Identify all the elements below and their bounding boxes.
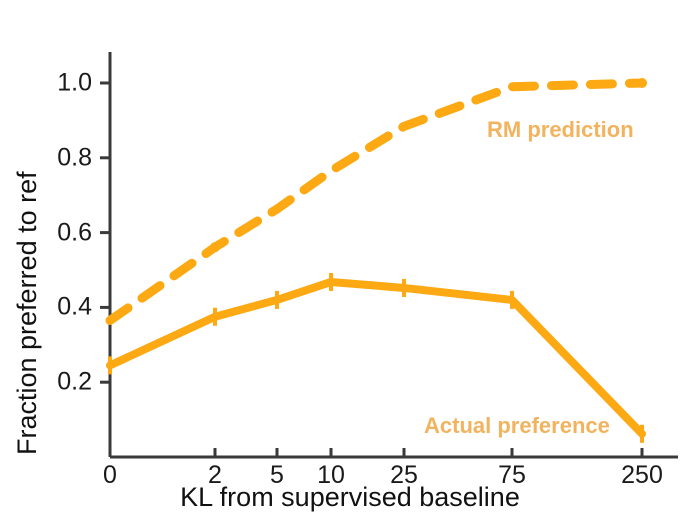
series-line-actual-preference <box>110 282 642 434</box>
series-label-rm-prediction: RM prediction <box>487 117 634 143</box>
series-markers-rm-prediction <box>210 78 647 252</box>
x-axis-title: KL from supervised baseline <box>0 482 700 513</box>
y-tick-label: 0.8 <box>0 143 92 172</box>
chart-figure: 025102575250 0.20.40.60.81.0 KL from sup… <box>0 0 700 532</box>
plot-area <box>0 0 700 532</box>
y-tick-label: 1.0 <box>0 69 92 98</box>
data-point-marker <box>210 242 220 252</box>
series-label-actual-preference: Actual preference <box>424 413 610 439</box>
y-axis-title: Fraction preferred to ref <box>12 171 43 455</box>
data-point-marker <box>637 78 647 88</box>
